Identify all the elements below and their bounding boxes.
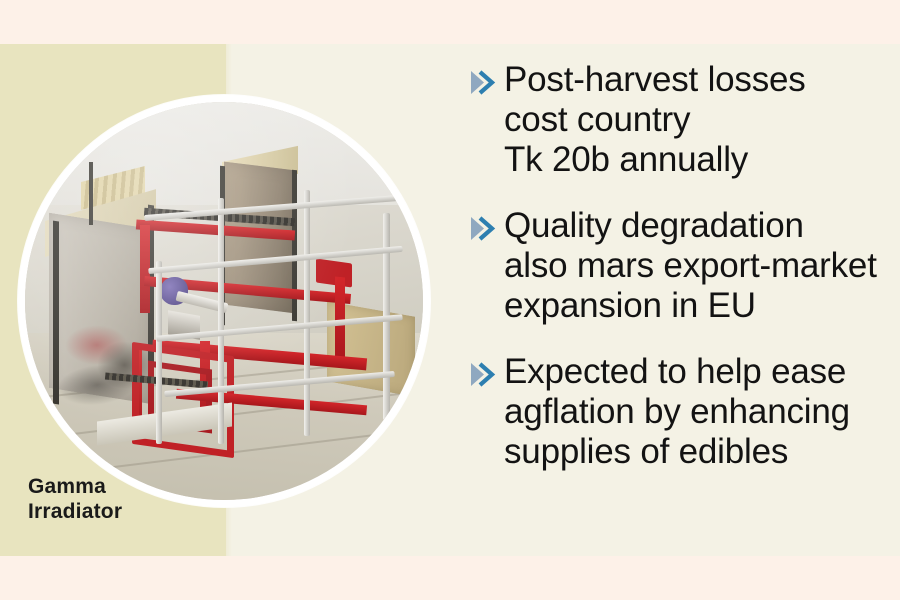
double-chevron-icon [468, 360, 498, 390]
bullet-1-line-1: Post-harvest losses [504, 60, 886, 100]
bullet-3-line-3: supplies of edibles [504, 432, 886, 472]
infographic-root: Gamma Irradiator Post-harvest losses cos… [0, 0, 900, 600]
photo-caption: Gamma Irradiator [28, 474, 218, 524]
bullet-item-2: Quality degradation also mars export-mar… [466, 206, 886, 326]
double-chevron-icon [468, 68, 498, 98]
bullet-1-line-2: cost country [504, 100, 886, 140]
bullet-list: Post-harvest losses cost country Tk 20b … [466, 60, 886, 472]
bullet-item-1: Post-harvest losses cost country Tk 20b … [466, 60, 886, 180]
gamma-irradiator-photo [25, 102, 423, 500]
bullet-2-line-1: Quality degradation [504, 206, 886, 246]
bullet-item-3: Expected to help ease agflation by enhan… [466, 352, 886, 472]
photo-highlight [25, 102, 423, 500]
bullet-2-line-3: expansion in EU [504, 286, 886, 326]
bullet-1-line-3: Tk 20b annually [504, 140, 886, 180]
photo-caption-line-2: Irradiator [28, 499, 218, 524]
photo-caption-line-1: Gamma [28, 474, 218, 499]
bullet-3-line-1: Expected to help ease [504, 352, 886, 392]
content-panel: Gamma Irradiator Post-harvest losses cos… [0, 44, 900, 556]
bullet-3-line-2: agflation by enhancing [504, 392, 886, 432]
double-chevron-icon [468, 214, 498, 244]
photo-scene [25, 102, 423, 500]
bullet-2-line-2: also mars export-market [504, 246, 886, 286]
photo-circle-frame [18, 95, 430, 507]
